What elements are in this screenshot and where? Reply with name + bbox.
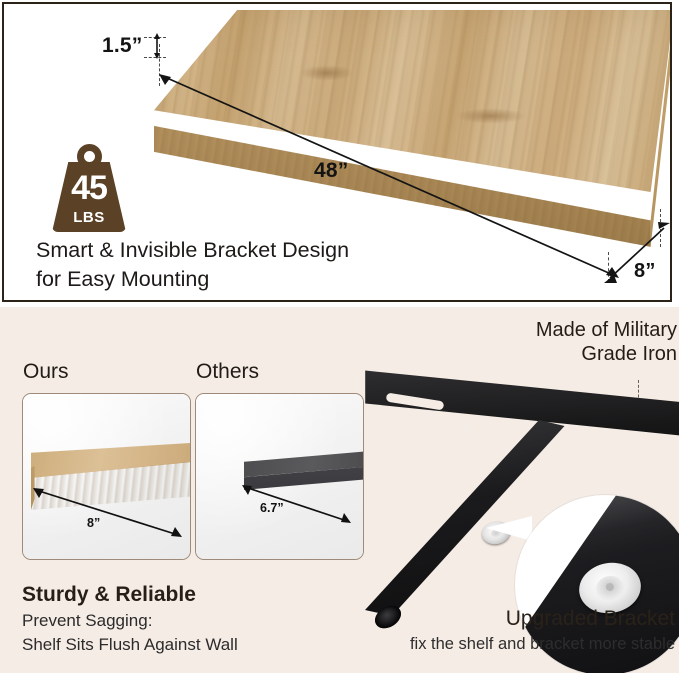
weight-capacity-badge: 45 LBS <box>52 144 126 234</box>
thickness-label: 1.5” <box>102 34 143 58</box>
ours-dimension-label: 8” <box>85 516 102 530</box>
top-caption: Smart & Invisible Bracket Design for Eas… <box>36 236 476 293</box>
sturdy-line2: Shelf Sits Flush Against Wall <box>22 635 238 655</box>
upgraded-bracket-title: Upgraded Bracket <box>506 607 675 631</box>
comparison-heading-others: Others <box>196 360 259 384</box>
comparison-card-others: 6.7” <box>195 393 364 560</box>
military-grade-heading: Made of Military Grade Iron <box>427 318 677 367</box>
weight-value: 45 <box>52 171 126 205</box>
others-dimension-label: 6.7” <box>258 501 286 515</box>
military-grade-line2: Grade Iron <box>427 342 677 366</box>
top-caption-line1: Smart & Invisible Bracket Design <box>36 236 476 265</box>
comparison-heading-ours: Ours <box>23 360 69 384</box>
top-panel: 1.5” 48” 8” 45 LBS Smart & Invisible Bra… <box>2 2 672 302</box>
product-infographic: 1.5” 48” 8” 45 LBS Smart & Invisible Bra… <box>0 0 679 673</box>
bracket-illustration: Made of Military Grade Iron Upgraded Bra… <box>360 310 679 673</box>
thickness-arrow-icon <box>150 33 164 59</box>
weight-unit: LBS <box>52 210 126 225</box>
sturdy-line1: Prevent Sagging: <box>22 611 152 631</box>
top-caption-line2: for Easy Mounting <box>36 265 476 294</box>
comparison-card-ours: 8” <box>22 393 191 560</box>
magnifier-pointer-icon <box>486 516 532 541</box>
ours-dimension-arrow-icon <box>33 486 183 544</box>
length-label: 48” <box>314 159 348 183</box>
sturdy-title: Sturdy & Reliable <box>22 583 196 607</box>
bracket-pilot-hole-icon <box>464 423 470 431</box>
upgraded-bracket-subtitle: fix the shelf and bracket more stable <box>410 635 675 654</box>
military-grade-line1: Made of Military <box>427 318 677 342</box>
depth-label: 8” <box>634 260 656 283</box>
